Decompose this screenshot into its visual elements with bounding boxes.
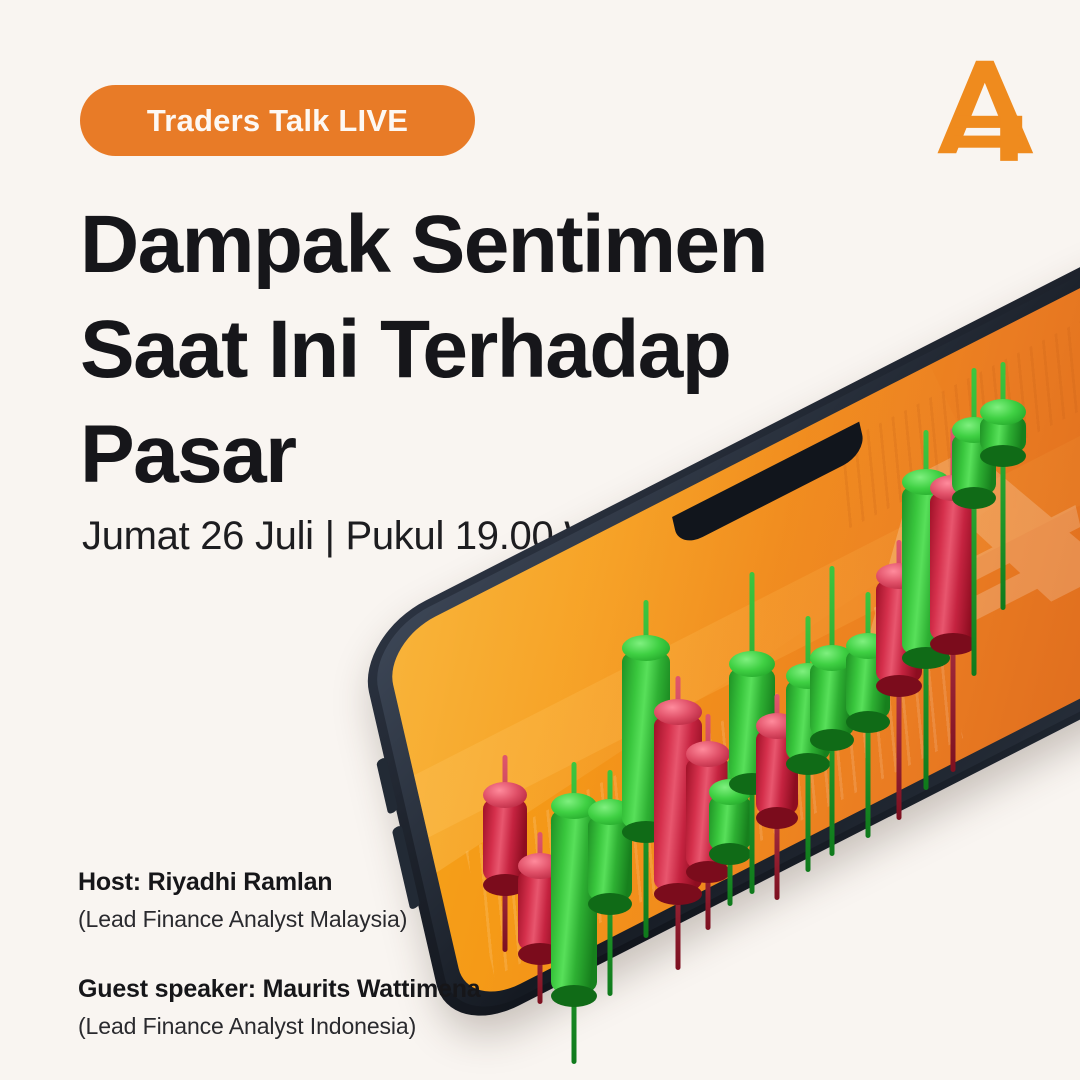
candle-body [622,648,670,832]
candle-cap [654,699,702,725]
candlestick-bullish [729,572,775,894]
candle-cap [686,741,730,767]
candlestick-bullish [786,616,830,872]
candle-body [756,726,798,818]
promo-poster: Traders Talk LIVE Dampak Sentimen Saat I… [0,0,1080,1080]
candle-body [930,488,976,644]
candle-body [980,412,1026,456]
candle-base [846,711,890,733]
candle-wick [750,572,755,894]
screen-texture-bottom [465,613,962,977]
candle-body [729,664,775,784]
candle-body [846,646,890,722]
candle-wick [728,760,733,906]
phone-volume-button [376,757,398,815]
candlestick-bullish [980,362,1026,610]
candle-cap [846,633,890,659]
candle-body [483,795,527,885]
candle-body [709,792,751,854]
speaker-credits: Host: Riyadhi Ramlan (Lead Finance Analy… [78,866,481,1042]
candle-wick [806,616,811,872]
candle-wick [676,676,681,970]
candle-cap [786,663,830,689]
candle-base [551,985,597,1007]
headline-line-3: Pasar [80,403,840,508]
candle-cap [756,713,798,739]
candle-wick [866,592,871,838]
candle-cap [709,779,751,805]
candle-base [876,675,922,697]
candle-base [952,487,996,509]
candle-body [902,482,950,658]
candle-wick [644,600,649,938]
candle-base [588,893,632,915]
candlestick-bearish [686,714,730,930]
candle-cap [483,782,527,808]
schedule-text: Jumat 26 Juli | Pukul 19.00 WIB [82,514,639,559]
candle-body [588,812,632,904]
candlestick-bearish [483,755,527,952]
candle-body [518,866,562,954]
candlestick-bullish [810,566,854,856]
host-name: Host: Riyadhi Ramlan [78,866,481,900]
page-title: Dampak Sentimen Saat Ini Terhadap Pasar [80,193,840,508]
candle-wick [972,368,977,676]
candle-body [876,576,922,686]
candle-base [786,753,830,775]
candle-wick [503,755,508,952]
headline-line-1: Dampak Sentimen [80,193,840,298]
guest-name: Guest speaker: Maurits Wattimena [78,973,481,1007]
candle-cap [729,651,775,677]
candle-cap [952,417,996,443]
candle-base [709,843,751,865]
candlestick-bullish [846,592,890,838]
brand-a-logo-icon [932,52,1042,162]
candle-base [483,874,527,896]
candle-body [654,712,702,894]
candlestick-bullish [622,600,670,938]
candle-wick [572,762,577,1064]
host-role: (Lead Finance Analyst Malaysia) [78,903,481,935]
candle-cap [551,793,597,819]
candle-wick [924,430,929,790]
candle-base [654,883,702,905]
candlestick-bearish [518,832,562,1004]
candle-base [518,943,562,965]
candle-cap [930,475,976,501]
guest-role: (Lead Finance Analyst Indonesia) [78,1010,481,1042]
candle-cap [876,563,922,589]
candle-wick [608,770,613,996]
candle-base [810,729,854,751]
candle-body [810,658,854,740]
candle-body [786,676,830,764]
candlestick-bullish [551,762,597,1064]
candlestick-bullish [952,368,996,676]
live-badge-label: Traders Talk LIVE [147,103,408,139]
live-badge[interactable]: Traders Talk LIVE [80,85,475,156]
candle-wick [1001,362,1006,610]
candlestick-bearish [930,428,976,772]
candle-cap [622,635,670,661]
credit-host: Host: Riyadhi Ramlan (Lead Finance Analy… [78,866,481,935]
candle-base [756,807,798,829]
candle-wick [830,566,835,856]
candlestick-bearish [654,676,702,970]
candle-body [551,806,597,996]
candle-wick [897,540,902,820]
candle-wick [775,694,780,900]
candle-base [930,633,976,655]
candle-wick [706,714,711,930]
credit-guest: Guest speaker: Maurits Wattimena (Lead F… [78,973,481,1042]
candlestick-bullish [902,430,950,790]
candlestick-bearish [876,540,922,820]
candle-cap [518,853,562,879]
screen-texture-top [829,318,1080,530]
candle-cap [902,469,950,495]
candle-body [952,430,996,498]
candle-body [686,754,730,872]
candle-base [686,861,730,883]
candle-base [729,773,775,795]
candle-base [622,821,670,843]
candle-cap [980,399,1026,425]
candle-wick [538,832,543,1004]
headline-line-2: Saat Ini Terhadap [80,298,840,403]
candle-base [980,445,1026,467]
candlestick-bullish [588,770,632,996]
candle-cap [588,799,632,825]
candle-wick [951,428,956,772]
candlestick-bullish [709,760,751,906]
candle-base [902,647,950,669]
candlestick-bearish [756,694,798,900]
candle-cap [810,645,854,671]
